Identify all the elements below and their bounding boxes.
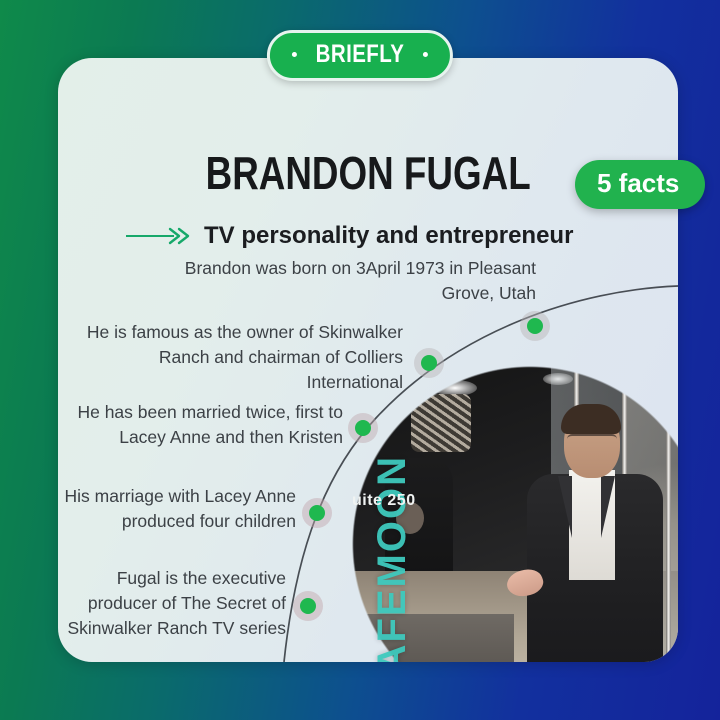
double-chevron-right-icon [126,226,192,246]
fact-item-1: Brandon was born on 3April 1973 in Pleas… [118,256,536,306]
suite-sign-text: uite 250 [352,492,416,510]
fact-item-4: His marriage with Lacey Anne produced fo… [58,484,296,534]
subtitle-text: TV personality and entrepreneur [204,224,573,248]
subject-figure [514,408,676,662]
subtitle-row: TV personality and entrepreneur [126,224,573,248]
fact-line: He is famous as the owner of Skinwalker [58,320,403,345]
facts-count-label: 5 facts [597,168,679,198]
fact-line: Ranch and chairman of Colliers Internati… [58,345,403,395]
badge-dot-right-icon [423,52,428,57]
subject-lapel-right [601,476,615,538]
brand-badge-label: BRIEFLY [316,42,405,67]
fact-line: Lacey Anne and then Kristen [58,425,343,450]
fact-line: Fugal is the executive [58,566,286,591]
subject-hair [561,404,621,434]
subject-glasses [567,434,617,444]
subject-lapel-left [558,476,572,538]
fact-line: His marriage with Lacey Anne [58,484,296,509]
arc-marker-5 [293,591,323,621]
fact-item-2: He is famous as the owner of Skinwalker … [58,320,403,395]
fact-card: BRANDON FUGAL TV personality and entrepr… [58,58,678,662]
page-title-text: BRANDON FUGAL [205,150,530,196]
brand-badge[interactable]: BRIEFLY [267,30,453,81]
fact-line: He has been married twice, first to [58,400,343,425]
facts-count-badge[interactable]: 5 facts [575,160,705,209]
fact-item-3: He has been married twice, first to Lace… [58,400,343,450]
arc-marker-4 [302,498,332,528]
fact-line: Brandon was born on 3April 1973 in Pleas… [118,256,536,281]
fact-line: producer of The Secret of [58,591,286,616]
wall-sculpture [411,394,471,452]
badge-dot-left-icon [292,52,297,57]
arc-marker-1 [520,311,550,341]
safemoon-sign-text: SAFEMOON [372,455,412,662]
fact-line: Skinwalker Ranch TV series [58,616,286,641]
fact-line: produced four children [58,509,296,534]
fact-line: Grove, Utah [118,281,536,306]
infographic-canvas: BRANDON FUGAL TV personality and entrepr… [0,0,720,720]
fact-item-5: Fugal is the executive producer of The S… [58,566,286,641]
